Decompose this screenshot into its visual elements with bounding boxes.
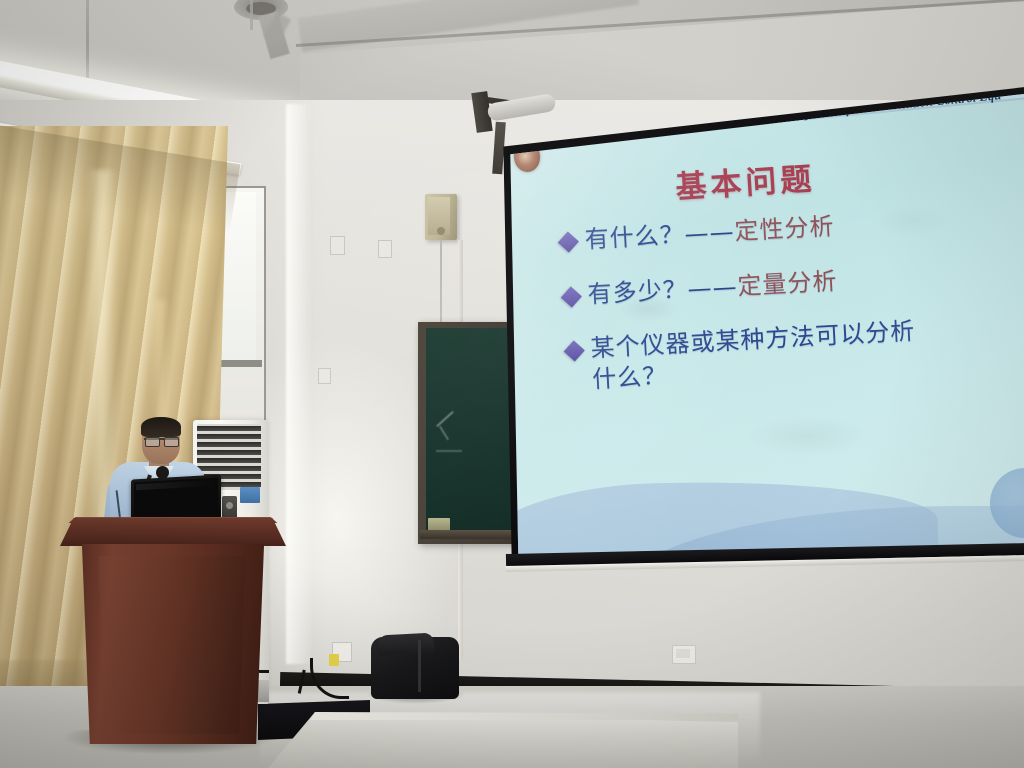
- glasses-lens-left: [145, 437, 160, 447]
- bullet-question: 有多少？: [587, 275, 688, 308]
- chalk-mark-tertiary: [436, 450, 462, 452]
- lecture-hall-photo: 国家空气污染治理设备产品质量监督检验中心（福建） National Instit…: [0, 0, 1024, 768]
- wall-plate: [330, 236, 345, 255]
- wall-plate-tertiary: [318, 368, 331, 384]
- bullet-answer: 定性分析: [734, 212, 835, 245]
- diamond-bullet-icon: [564, 341, 585, 362]
- glasses-lens-right: [164, 437, 179, 447]
- podium-front-panel: [92, 556, 252, 734]
- bag-flap: [378, 633, 435, 656]
- bullet-text: 有多少？——定量分析: [587, 266, 838, 310]
- list-item: 某个仪器或某种方法可以分析 什么？: [566, 308, 1024, 396]
- podium-top: [60, 518, 286, 546]
- bullet-dash: ——: [687, 272, 738, 303]
- bag-strap: [418, 640, 421, 692]
- power-outlet-right-face: [676, 649, 690, 658]
- diamond-bullet-icon: [561, 286, 582, 307]
- slide-canvas: 国家空气污染治理设备产品质量监督检验中心（福建） National Instit…: [498, 86, 1024, 570]
- presenter-hair: [141, 417, 181, 437]
- bullet-answer: 定量分析: [737, 267, 838, 300]
- air-conditioner-label: [240, 487, 260, 503]
- slide-title: 基本问题: [674, 153, 817, 207]
- wall-speaker-driver: [437, 227, 445, 235]
- air-conditioner-button[interactable]: [226, 502, 233, 509]
- floor-cable-segment: [298, 670, 327, 699]
- bullet-text: 有什么？——定性分析: [584, 211, 835, 255]
- light-suspension-rod-secondary: [250, 0, 253, 30]
- bullet-dash: ——: [684, 218, 735, 249]
- wall-plate-secondary: [378, 240, 392, 258]
- screen-blemish-secondary: [748, 416, 868, 456]
- projection-screen[interactable]: 国家空气污染治理设备产品质量监督检验中心（福建） National Instit…: [498, 86, 1024, 570]
- bullet-question: 有什么？: [584, 220, 685, 253]
- desk: [268, 712, 738, 768]
- desk-edge: [268, 712, 738, 720]
- slide-bullet-list: 有什么？——定性分析 有多少？——定量分析 某个仪器或某种方法可以分析 什么？: [560, 199, 1024, 421]
- bullet-text: 某个仪器或某种方法可以分析 什么？: [590, 316, 918, 395]
- light-suspension-rod: [86, 0, 89, 84]
- diamond-bullet-icon: [558, 231, 579, 252]
- list-item: 有多少？——定量分析: [563, 254, 1024, 312]
- list-item: 有什么？——定性分析: [560, 199, 1024, 257]
